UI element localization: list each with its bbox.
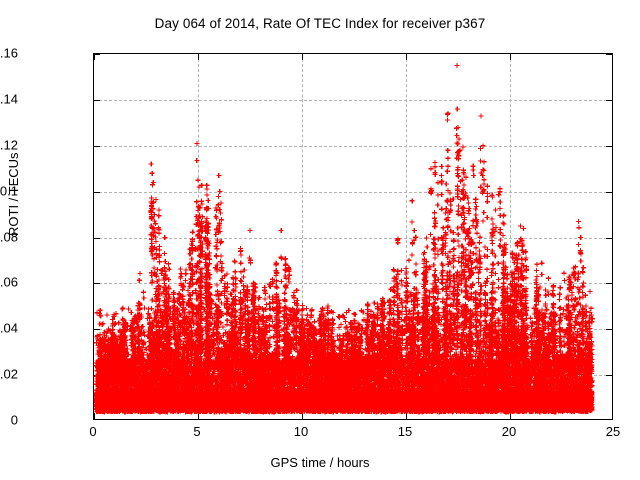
y-tick-label: 0.02 (0, 367, 18, 382)
y-tick-label: 0.12 (0, 137, 18, 152)
scatter-points (94, 63, 595, 414)
y-tick-label: 0.06 (0, 275, 18, 290)
scatter-series-layer (94, 54, 613, 420)
chart-canvas: Day 064 of 2014, Rate Of TEC Index for r… (0, 0, 640, 480)
y-tick-label: 0.14 (0, 91, 18, 106)
page-title: Day 064 of 2014, Rate Of TEC Index for r… (0, 16, 640, 31)
x-tick-label: 0 (89, 424, 96, 439)
x-tick-label: 25 (606, 424, 620, 439)
x-tick-label: 5 (193, 424, 200, 439)
y-tick-label: 0.04 (0, 321, 18, 336)
y-tick-label: 0.08 (0, 229, 18, 244)
x-axis-title: GPS time / hours (0, 455, 640, 470)
y-tick-label: 0 (11, 413, 18, 428)
x-tick-label: 15 (398, 424, 412, 439)
y-tick-label: 0.1 (0, 183, 18, 198)
x-tick-label: 20 (502, 424, 516, 439)
plot-area (93, 53, 613, 420)
y-tick-label: 0.16 (0, 46, 18, 61)
x-tick-label: 10 (294, 424, 308, 439)
